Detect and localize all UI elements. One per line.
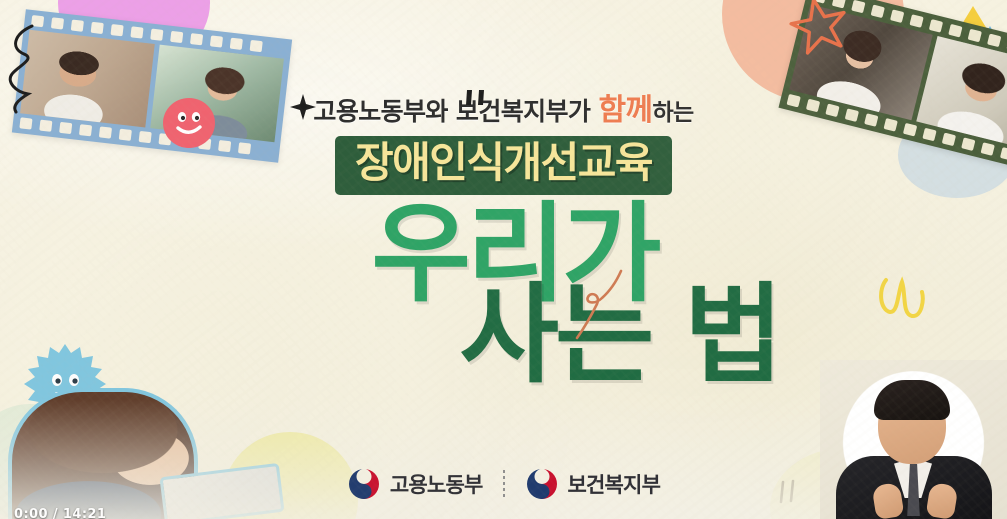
- interpreter-hair: [874, 380, 950, 420]
- subtitle-lead: 고용노동부와 보건복지부가: [313, 97, 598, 126]
- logo-divider: [503, 470, 505, 498]
- squiggle-doodle-icon-yellow: [876, 270, 932, 324]
- sign-language-interpreter-overlay: [820, 360, 1007, 519]
- logo-ministry-of-employment-and-labor: 고용노동부: [347, 467, 483, 501]
- taegeuk-icon: [347, 467, 381, 501]
- quote-mark-icon: [463, 88, 495, 114]
- logo-label-health: 보건복지부: [568, 469, 661, 499]
- logo-label-labor: 고용노동부: [390, 469, 483, 499]
- video-frame: 고용노동부와 보건복지부가 함께하는 장애인식개선교육 우리가 사는 법: [0, 0, 1007, 519]
- logo-ministry-of-health-and-welfare: 보건복지부: [525, 467, 661, 501]
- subtitle-highlight: 함께: [598, 93, 652, 128]
- title-block: 고용노동부와 보건복지부가 함께하는 장애인식개선교육 우리가 사는 법: [0, 96, 1007, 385]
- subtitle: 고용노동부와 보건복지부가 함께하는: [0, 96, 1007, 126]
- curl-doodle-icon: [575, 268, 639, 340]
- sparkle-icon: [289, 93, 317, 121]
- taegeuk-icon: [525, 467, 559, 501]
- course-banner: 장애인식개선교육: [335, 136, 672, 195]
- subtitle-tail: 하는: [652, 100, 693, 126]
- player-timestamp: 0:00 / 14:21: [14, 507, 106, 519]
